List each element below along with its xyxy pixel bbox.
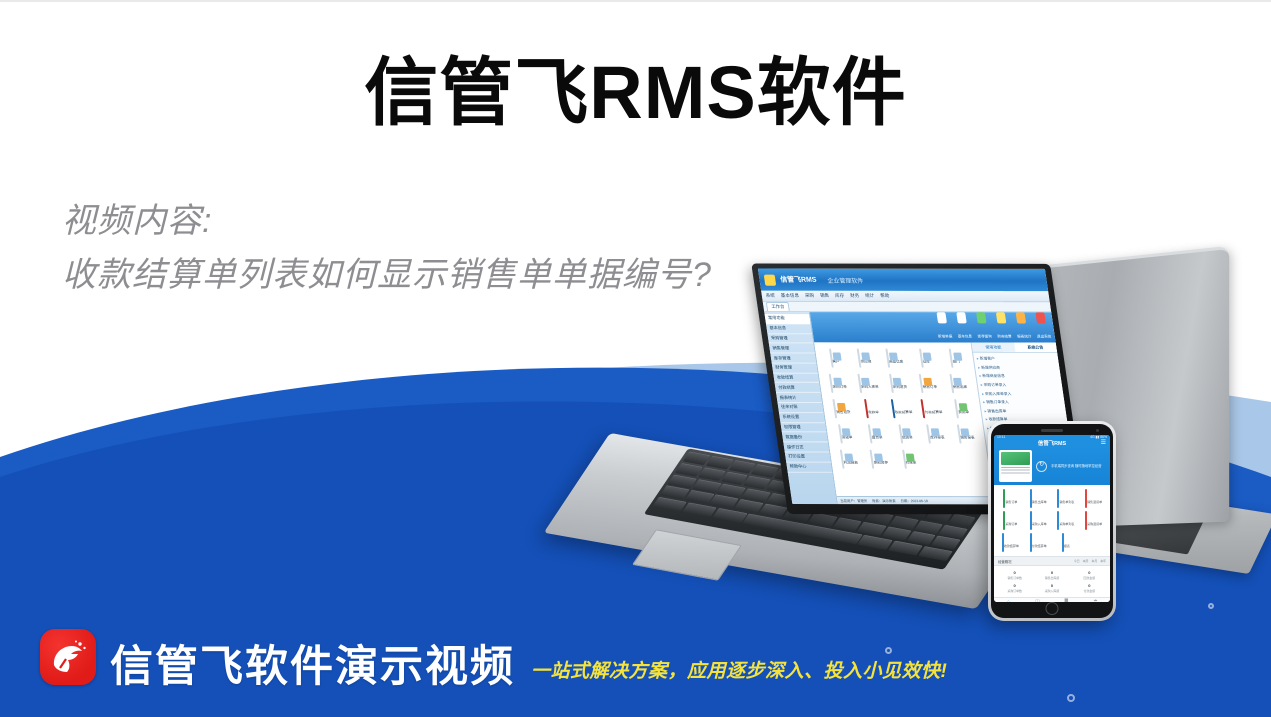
module-tile[interactable]: 库存报表 [922, 425, 951, 443]
sidebar-item[interactable]: 财务管理 [772, 363, 818, 373]
sidebar-item[interactable]: 销售管理 [769, 344, 815, 354]
sales-order-icon [1003, 489, 1005, 508]
module-tile[interactable]: 期初库存 [865, 451, 894, 469]
info-icon [956, 312, 967, 323]
ribbon-button-label: 报表统计 [1017, 335, 1032, 339]
app-titlebar: 信管飞RMS 企业管理软件 [758, 269, 1048, 292]
stat-value: 0 [996, 570, 1033, 575]
page-title: 信管飞RMS软件 [0, 50, 1271, 135]
phone-section-header: 经营概况 今日 本周 本月 本年 [994, 556, 1110, 566]
right-panel-item[interactable]: 新增客户 [976, 355, 1055, 364]
inventory-icon [976, 312, 987, 323]
app-tabrow[interactable]: 工作台 [763, 302, 1051, 312]
sidebar-item[interactable]: 采购管理 [767, 334, 813, 344]
refresh-icon [1036, 461, 1047, 472]
sales-return-icon [832, 399, 837, 418]
tab-workspace[interactable]: 工作台 [766, 302, 790, 311]
brand-name: 信管飞软件演示视频 [110, 646, 515, 689]
phone-tile[interactable]: 销售出库单 [1025, 490, 1052, 508]
phone-stats-grid: 0销售订单数 0销售出库额 0回款金额 0采购订单数 0采购入库额 0付款金额 [994, 566, 1110, 597]
module-tile[interactable]: 组装单 [891, 425, 920, 443]
new-document-icon [936, 312, 947, 323]
sidebar-item[interactable]: 打印设置 [785, 452, 831, 462]
department-icon [949, 349, 954, 368]
report-icon [1016, 312, 1027, 323]
menu-item[interactable]: 销售 [820, 293, 830, 299]
sidebar-item[interactable]: 报表统计 [776, 393, 822, 403]
document-icon: ◫ [1023, 600, 1052, 602]
ribbon-button[interactable]: 库存查询 [974, 312, 991, 342]
user-icon: ☂ [1081, 600, 1110, 602]
status-account: 账套：演示账套 [872, 498, 896, 503]
right-panel-item[interactable]: 新增商品信息 [979, 372, 1058, 381]
stat-cell: 0回款金额 [1071, 570, 1108, 580]
phone-banner-card-icon [999, 450, 1032, 482]
warehouse-icon [919, 349, 924, 368]
module-tile[interactable]: 收款结算单 [888, 400, 917, 418]
phone-app-title: 信管飞RMS [1038, 439, 1066, 447]
supplier-icon [857, 349, 862, 368]
right-panel-item[interactable]: 新增供应商 [978, 363, 1057, 372]
menu-item[interactable]: 基本信息 [780, 293, 799, 299]
sidebar-item[interactable]: 权限管理 [780, 423, 826, 433]
statement-icon [902, 450, 907, 469]
stat-value: 0 [1033, 570, 1070, 575]
phone-navbar: 信管飞RMS ☰ [994, 439, 1110, 447]
opening-stock-icon [870, 450, 875, 469]
menu-item[interactable]: 财务 [850, 293, 860, 299]
module-tile[interactable]: 盘点单 [861, 425, 890, 443]
sidebar-item[interactable]: 帮助中心 [786, 462, 832, 472]
phone-tile-label: 收款结算单 [1004, 544, 1019, 548]
stat-label: 采购订单数 [996, 589, 1033, 593]
sidebar-item[interactable]: 库存管理 [770, 354, 816, 364]
phone-tile[interactable]: 销售单列表 [1053, 490, 1080, 508]
ribbon-button[interactable]: 退出系统 [1033, 312, 1050, 342]
module-tile[interactable]: 收款单 [858, 400, 887, 418]
purchase-return-icon [889, 374, 894, 393]
module-tile[interactable]: 部门 [941, 350, 970, 368]
module-tile[interactable]: 销售订单 [914, 375, 943, 393]
phone-device: 10:11 4G ▮▮ 86% 信管飞RMS ☰ [988, 421, 1116, 621]
assembly-icon [898, 424, 903, 443]
app-title: 信管飞RMS [780, 275, 818, 285]
stat-cell: 0销售订单数 [996, 570, 1033, 580]
expense-icon [955, 399, 960, 418]
module-tile[interactable]: 付款结算单 [918, 400, 947, 418]
module-tile[interactable]: 对账单 [895, 451, 924, 469]
home-icon: ⌂ [994, 600, 1023, 602]
right-panel-item[interactable]: 销售订单录入 [983, 398, 1062, 407]
menu-item[interactable]: 库存 [835, 293, 845, 299]
footer-branding: 信管飞软件演示视频 一站式解决方案，应用逐步深入、投入小见效快! [40, 629, 947, 685]
status-user: 当前用户：管理员 [840, 498, 868, 503]
stat-value: 0 [1071, 583, 1108, 588]
phone-home-button[interactable] [1046, 602, 1059, 615]
sidebar-item[interactable]: 操作日志 [783, 443, 829, 453]
stat-value: 0 [1071, 570, 1108, 575]
app-ribbon-toolbar[interactable]: 新增单据 基本信息 库存查询 财务结算 报表统计 退出系统 [810, 312, 1056, 343]
phone-banner: 手机端同步查询 随时随地掌控经营 [994, 447, 1110, 485]
chart-icon: ▉ [1052, 600, 1081, 602]
dove-logo-icon [40, 629, 96, 685]
phone-tile[interactable]: 采购入库单 [1025, 512, 1052, 530]
sidebar-item[interactable]: 数据备份 [782, 433, 828, 443]
right-panel-tab-notice[interactable]: 系统公告 [1014, 343, 1057, 352]
ribbon-button[interactable]: 新增单据 [934, 312, 951, 342]
filter-year[interactable]: 本年 [1100, 559, 1106, 563]
ribbon-button[interactable]: 财务结算 [994, 312, 1011, 342]
ribbon-button-label: 退出系统 [1037, 335, 1052, 339]
tab-profile[interactable]: ☂我的 [1081, 598, 1110, 602]
subtitle-question: 收款结算单列表如何显示销售单单据编号? [62, 251, 712, 299]
module-tile[interactable]: 采购退货 [884, 375, 913, 393]
filter-month[interactable]: 本月 [1091, 559, 1097, 563]
phone-section-filters[interactable]: 今日 本周 本月 本年 [1074, 559, 1106, 563]
stat-cell: 0销售出库额 [1033, 570, 1070, 580]
banner-card-image [1001, 452, 1030, 465]
phone-tile[interactable]: 收款结算单 [997, 534, 1024, 552]
receipt-settlement-icon [891, 399, 896, 418]
phone-camera-icon [1096, 429, 1099, 432]
phone-tile-label: 采购退货单 [1087, 522, 1102, 526]
phone-tile[interactable]: 付款结算单 [1025, 534, 1052, 552]
phone-banner-text: 手机端同步查询 随时随地掌控经营 [1051, 464, 1101, 469]
sidebar-item[interactable]: 常用功能 [765, 314, 811, 324]
ribbon-button-label: 财务结算 [997, 335, 1012, 339]
module-tile[interactable]: 客户 [820, 349, 849, 367]
module-tile[interactable]: 调拨单 [831, 425, 860, 443]
phone-body: 10:11 4G ▮▮ 86% 信管飞RMS ☰ [991, 424, 1113, 618]
module-tile[interactable]: 仓库 [910, 350, 939, 368]
app-subtitle: 企业管理软件 [827, 275, 864, 284]
purchase-inbound-icon [857, 374, 862, 393]
stat-cell: 0付款金额 [1071, 583, 1108, 593]
sales-outbound-icon [949, 374, 954, 393]
phone-tile[interactable]: 销售订单 [997, 490, 1024, 508]
module-tile[interactable]: 销售退货 [828, 400, 857, 418]
stat-cell: 0采购订单数 [996, 583, 1033, 593]
phone-tile-label: 采购入库单 [1032, 522, 1047, 526]
phone-speaker [1041, 429, 1063, 432]
phone-tile[interactable]: 销售退货单 [1080, 490, 1107, 508]
purchase-return-icon [1085, 511, 1087, 530]
phone-module-grid[interactable]: 销售订单 销售出库单 销售单列表 销售退货单 采购订单 采购入库单 采购单列表 … [994, 485, 1110, 556]
transfer-icon [838, 424, 843, 443]
report-grid-icon [1062, 533, 1064, 552]
module-tile[interactable]: 商品信息 [880, 350, 909, 368]
phone-tile[interactable]: 报表 [1053, 534, 1080, 552]
app-logo-icon [764, 274, 777, 285]
stat-cell: 0采购入库额 [1033, 583, 1070, 593]
tab-home[interactable]: ⌂首页 [994, 598, 1023, 602]
purchase-inbound-icon [1030, 511, 1032, 530]
stat-label: 采购入库额 [1033, 589, 1070, 593]
phone-tile-label: 销售订单 [1005, 500, 1017, 504]
exit-icon [1035, 312, 1046, 323]
app-menubar[interactable]: 系统 基本信息 采购 销售 库存 财务 统计 帮助 [761, 291, 1050, 302]
sales-return-icon [1085, 489, 1087, 508]
sidebar-item[interactable]: 系统设置 [779, 413, 825, 423]
ribbon-button[interactable]: 基本信息 [954, 312, 971, 342]
right-panel-item[interactable]: 采购入库单录入 [981, 389, 1060, 398]
phone-tile-label: 报表 [1064, 544, 1070, 548]
receipt-icon [864, 399, 869, 418]
sales-order-icon [919, 374, 924, 393]
purchase-list-icon [1057, 511, 1059, 530]
module-tile[interactable]: 采购订单 [824, 375, 853, 393]
ribbon-button[interactable]: 报表统计 [1014, 312, 1031, 342]
finance-icon [996, 312, 1007, 323]
right-panel-item[interactable]: 销售出库单 [984, 407, 1063, 416]
device-cluster: 信管飞RMS 企业管理软件 系统 基本信息 采购 销售 库存 财务 统计 帮助 [570, 257, 1270, 657]
payment-settlement-icon [1030, 533, 1032, 552]
profit-report-icon [840, 450, 845, 469]
module-tile[interactable]: 销售报表 [952, 425, 981, 443]
sales-outbound-icon [1030, 489, 1032, 508]
right-panel-item[interactable]: 采购订单录入 [980, 381, 1059, 390]
slide-canvas: 信管飞RMS软件 视频内容: 收款结算单列表如何显示销售单单据编号? [0, 0, 1271, 717]
module-tile[interactable]: 利润报表 [835, 451, 864, 469]
stat-label: 销售出库额 [1033, 576, 1070, 580]
phone-tile[interactable]: 采购订单 [997, 512, 1024, 530]
stat-value: 0 [1033, 583, 1070, 588]
phone-tile[interactable]: 采购退货单 [1080, 512, 1107, 530]
stat-label: 付款金额 [1071, 589, 1108, 593]
module-tile[interactable]: 费用单 [948, 400, 977, 418]
ribbon-button-label: 新增单据 [938, 334, 953, 338]
stocktake-icon [868, 424, 873, 443]
hamburger-menu-icon[interactable]: ☰ [1101, 440, 1106, 446]
stock-report-icon [926, 424, 931, 443]
banner-card-rows [1001, 467, 1030, 474]
phone-tile-label: 销售退货单 [1087, 500, 1102, 504]
ribbon-button-label: 库存查询 [977, 335, 992, 339]
menu-item[interactable]: 采购 [805, 293, 815, 299]
tab-documents[interactable]: ◫单据中心 [1023, 598, 1052, 602]
phone-tile-label: 销售单列表 [1059, 500, 1074, 504]
purchase-order-icon [829, 374, 834, 393]
sidebar-item[interactable]: 往来对账 [778, 403, 824, 413]
filter-today[interactable]: 今日 [1074, 559, 1080, 563]
menu-item[interactable]: 统计 [865, 293, 875, 299]
stat-label: 销售订单数 [996, 576, 1033, 580]
ribbon-button-label: 基本信息 [958, 334, 973, 338]
status-date: 日期：2023-06-18 [900, 498, 928, 503]
brand-tagline: 一站式解决方案，应用逐步深入、投入小见效快! [531, 656, 947, 683]
decor-dot-2 [1067, 694, 1075, 702]
module-tile[interactable]: 采购入库单 [854, 375, 883, 393]
tab-reports[interactable]: ▉报表统计 [1052, 598, 1081, 602]
module-tile[interactable]: 销售出库 [944, 375, 973, 393]
customer-icon [829, 348, 834, 367]
stat-value: 0 [996, 583, 1033, 588]
receipt-settlement-icon [1002, 533, 1004, 552]
right-panel-tabs[interactable]: 常用功能 系统公告 [972, 343, 1058, 353]
phone-section-title: 经营概况 [998, 559, 1012, 564]
product-icon [885, 349, 890, 368]
phone-tile[interactable]: 采购单列表 [1053, 512, 1080, 530]
phone-tile-label: 付款结算单 [1032, 544, 1047, 548]
menu-item[interactable]: 系统 [765, 293, 775, 299]
phone-tile-label: 采购单列表 [1059, 522, 1074, 526]
sidebar-item[interactable]: 基本信息 [766, 324, 812, 334]
subtitle-label: 视频内容: [62, 197, 712, 245]
stat-label: 回款金额 [1071, 576, 1108, 580]
sales-list-icon [1057, 489, 1059, 508]
right-panel-tab-common[interactable]: 常用功能 [972, 343, 1015, 352]
phone-tile-label: 采购订单 [1005, 522, 1017, 526]
phone-screen: 10:11 4G ▮▮ 86% 信管飞RMS ☰ [994, 435, 1110, 602]
sales-report-icon [956, 424, 961, 443]
sidebar-item[interactable]: 付款结算 [775, 383, 821, 393]
purchase-order-icon [1003, 511, 1005, 530]
payment-settlement-icon [921, 399, 926, 418]
filter-week[interactable]: 本周 [1083, 559, 1089, 563]
subtitle-block: 视频内容: 收款结算单列表如何显示销售单单据编号? [62, 197, 712, 300]
menu-item[interactable]: 帮助 [880, 293, 890, 299]
module-tile[interactable]: 供应商 [850, 350, 879, 368]
module-icon-grid[interactable]: 客户 供应商 商品信息 仓库 部门 采购订单 采购入库单 采购退货 销售订单 [814, 342, 993, 496]
sidebar-item[interactable]: 收款结算 [773, 373, 819, 383]
phone-tile-label: 销售出库单 [1032, 500, 1047, 504]
